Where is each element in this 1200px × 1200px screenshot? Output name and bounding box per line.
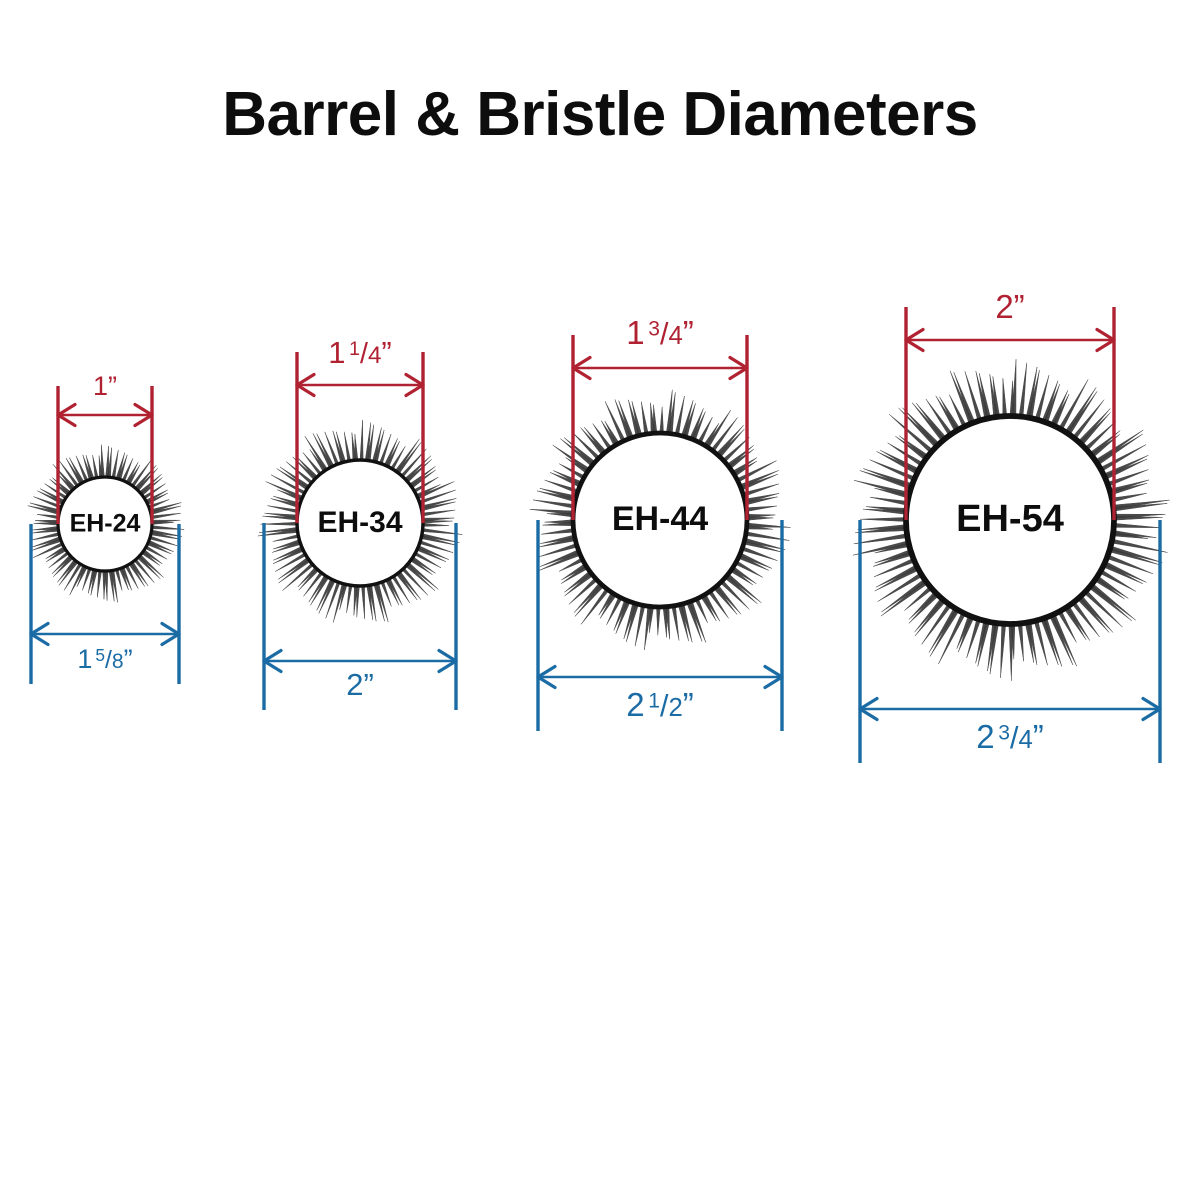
barrel-arrow-left-lower xyxy=(573,368,590,379)
bristle xyxy=(273,534,300,541)
barrel-dimension-label-eh-44: 1 3/4” xyxy=(626,314,694,351)
bristle-arrow-left-upper xyxy=(31,623,48,634)
bristle xyxy=(644,605,651,650)
barrel-arrow-right-lower xyxy=(1097,340,1114,351)
bristle-arrow-right-lower xyxy=(162,634,179,645)
bristle xyxy=(1009,623,1013,681)
bristle-arrow-left-upper xyxy=(264,650,281,661)
bristle-arrow-right-lower xyxy=(765,677,782,688)
bristle xyxy=(671,605,679,641)
bristle-arrow-left-lower xyxy=(31,634,48,645)
bristle xyxy=(541,528,575,534)
bristle-dimension-label-eh-54-unit: ” xyxy=(1033,718,1044,755)
barrel-arrow-left-upper xyxy=(58,404,75,415)
bristle-arrow-left-upper xyxy=(538,666,555,677)
bristle xyxy=(93,455,99,479)
barrel-dimension-label-eh-44-denominator: 4 xyxy=(668,322,682,350)
bristle xyxy=(870,497,909,505)
bristle-arrow-right-upper xyxy=(439,650,456,661)
bristle xyxy=(344,432,351,462)
diagram-page: Barrel & Bristle Diameters 1”1 5/8”EH-24… xyxy=(0,0,1200,1200)
bristle xyxy=(261,522,298,525)
bristle xyxy=(1113,523,1160,527)
bristle xyxy=(1000,623,1005,678)
bristle xyxy=(653,405,657,434)
bristle xyxy=(422,523,449,526)
bristle xyxy=(101,445,104,478)
bristle-dimension-label-eh-24-whole: 1 xyxy=(77,644,92,674)
barrel-dimension-label-eh-54-unit: ” xyxy=(1014,288,1025,325)
bristle-dimension-label-eh-34-whole: 2 xyxy=(346,667,363,702)
bristle-dimension-label-eh-44-unit: ” xyxy=(683,686,694,723)
bristle xyxy=(150,513,181,519)
bristle xyxy=(1108,548,1159,565)
bristle xyxy=(854,533,909,543)
bristle xyxy=(545,520,574,524)
barrel-arrow-left-upper xyxy=(573,357,590,368)
bristle xyxy=(37,514,60,519)
barrel-dimension-label-eh-24-whole: 1 xyxy=(93,371,108,401)
bristle-arrow-right-lower xyxy=(1143,709,1160,720)
barrel-dimension-label-eh-44-numerator: 3 xyxy=(648,317,660,340)
bristle-dimension-label-eh-54-numerator: 3 xyxy=(998,721,1010,744)
bristle-dimension-label-eh-44-denominator: 2 xyxy=(668,694,682,722)
bristle-dimension-label-eh-44-whole: 2 xyxy=(626,686,644,723)
barrel-arrow-right-upper xyxy=(730,357,747,368)
bristle xyxy=(97,570,102,598)
barrel-arrow-left-upper xyxy=(906,329,923,340)
barrel-dimension-label-eh-34-denominator: 4 xyxy=(368,342,381,369)
bristle-dimension-label-eh-44-numerator: 1 xyxy=(648,689,660,712)
barrel-dimension-label-eh-54-whole: 2 xyxy=(995,288,1013,325)
bristle xyxy=(355,434,358,461)
bristle-dimension-label-eh-54-denominator: 4 xyxy=(1018,726,1032,754)
bristle xyxy=(1019,363,1027,418)
bristle xyxy=(641,402,648,436)
bristle xyxy=(987,622,996,671)
bristle-dimension-label-eh-44: 2 1/2” xyxy=(626,686,694,723)
barrel-dimension-label-eh-34: 1 1/4” xyxy=(328,335,391,370)
barrel-arrow-left-upper xyxy=(297,374,314,385)
bristle-dimension-label-eh-54: 2 3/4” xyxy=(976,718,1044,755)
bristle-arrow-left-lower xyxy=(538,677,555,688)
barrel-dimension-label-eh-44-whole: 1 xyxy=(626,314,644,351)
bristle xyxy=(1111,493,1147,502)
bristle xyxy=(267,506,299,514)
bristle-dimension-label-eh-34-unit: ” xyxy=(363,667,373,702)
barrel-dimension-label-eh-34-numerator: 1 xyxy=(349,338,360,360)
barrel-arrow-left-lower xyxy=(906,340,923,351)
bristle xyxy=(746,523,791,528)
brush-group-eh-24: 1”1 5/8”EH-24 xyxy=(28,371,184,684)
brush-group-eh-34: 1 1/4”2”EH-34 xyxy=(258,335,462,710)
bristle-arrow-right-lower xyxy=(439,661,456,672)
bristle xyxy=(656,606,660,635)
barrel-dimension-label-eh-24-unit: ” xyxy=(108,371,117,401)
barrel-arrow-right-lower xyxy=(406,385,423,396)
barrel-arrow-left-lower xyxy=(297,385,314,396)
bristle xyxy=(361,585,364,619)
bristle xyxy=(663,606,667,638)
barrel-arrow-right-lower xyxy=(730,368,747,379)
bristle-arrow-left-lower xyxy=(264,661,281,672)
bristle xyxy=(533,500,575,509)
bristle-dimension-label-eh-24-unit: ” xyxy=(124,644,133,674)
bristle xyxy=(422,520,453,523)
barrel-arrow-right-upper xyxy=(1097,329,1114,340)
barrel-dimension-label-eh-34-whole: 1 xyxy=(328,335,345,370)
bristle-arrow-right-upper xyxy=(765,666,782,677)
brush-group-eh-44: 1 3/4”2 1/2”EH-44 xyxy=(530,314,791,731)
bristle xyxy=(1003,378,1007,417)
bristle xyxy=(746,516,773,520)
brush-group-eh-54: 2”2 3/4”EH-54 xyxy=(853,288,1169,763)
bristle xyxy=(660,407,664,434)
barrel-dimension-label-eh-24: 1” xyxy=(93,371,117,401)
bristle xyxy=(360,420,363,461)
barrel-arrow-right-upper xyxy=(135,404,152,415)
bristle xyxy=(745,506,777,512)
barrel-dimension-label-eh-34-unit: ” xyxy=(381,335,391,370)
bristle xyxy=(858,524,908,529)
barrel-dimension-label-eh-54: 2” xyxy=(995,288,1024,325)
bristle xyxy=(1113,516,1163,520)
bristle-arrow-left-lower xyxy=(860,709,877,720)
bristle xyxy=(1102,563,1143,584)
brush-model-label-eh-44: EH-44 xyxy=(612,500,708,538)
bristle-dimension-label-eh-24: 1 5/8” xyxy=(77,644,132,674)
barrel-dimension-label-eh-44-unit: ” xyxy=(683,314,694,351)
bristle-arrow-left-upper xyxy=(860,698,877,709)
bristle-dimension-label-eh-24-numerator: 5 xyxy=(95,645,105,665)
bristle-arrow-right-upper xyxy=(1143,698,1160,709)
bristle-dimension-label-eh-54-whole: 2 xyxy=(976,718,994,755)
brush-model-label-eh-34: EH-34 xyxy=(317,506,402,539)
bristle-arrow-right-upper xyxy=(162,623,179,634)
barrel-arrow-right-lower xyxy=(135,415,152,426)
barrel-arrow-right-upper xyxy=(406,374,423,385)
bristle-dimension-label-eh-24-denominator: 8 xyxy=(112,650,124,673)
bristle xyxy=(103,570,106,599)
brush-model-label-eh-24: EH-24 xyxy=(70,509,141,537)
bristle xyxy=(860,517,907,521)
brush-diagram: 1”1 5/8”EH-241 1/4”2”EH-341 3/4”2 1/2”EH… xyxy=(0,0,1200,1200)
bristle xyxy=(33,526,60,530)
bristle xyxy=(421,510,455,516)
bristle-dimension-label-eh-34: 2” xyxy=(346,667,374,702)
barrel-arrow-left-lower xyxy=(58,415,75,426)
bristle xyxy=(347,584,353,613)
brush-model-label-eh-54: EH-54 xyxy=(956,498,1064,540)
bristle xyxy=(1018,622,1024,661)
